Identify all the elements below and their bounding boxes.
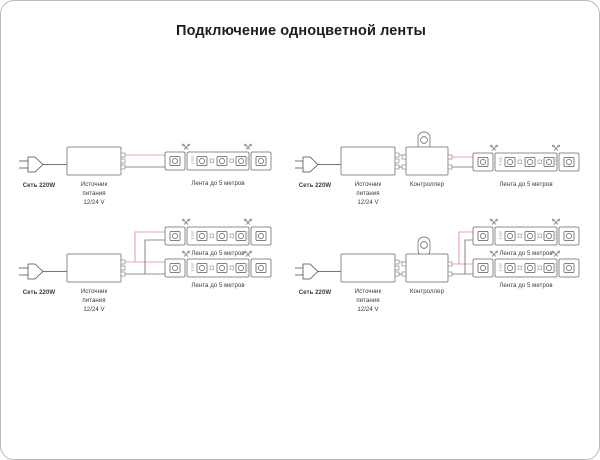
diagram-single-strip-with-controller: Сеть 220W Источник питания 12/24 V Контр… (293, 126, 583, 211)
positive-wire-branch (135, 232, 165, 262)
label-strip: Лента до 5 метров (163, 179, 273, 188)
diagram-canvas: Подключение одноцветной ленты (0, 0, 600, 460)
led-strip-icon (473, 227, 579, 245)
label-controller: Контроллер (397, 180, 457, 189)
diagram-4-graphics (293, 223, 583, 328)
positive-wire-branch (459, 232, 473, 264)
label-mains: Сеть 220W (285, 288, 345, 297)
scissors-cut-icon (182, 144, 251, 149)
label-mains: Сеть 220W (9, 181, 69, 190)
label-strip-lower: Лента до 5 метров (471, 281, 581, 290)
label-psu: Источник питания (64, 287, 124, 305)
led-strip-icon (165, 259, 271, 277)
label-psu-line2: питания (356, 297, 379, 304)
label-strip-upper: Лента до 5 метров (163, 249, 273, 258)
label-mains: Сеть 220W (9, 288, 69, 297)
label-psu-line2: питания (356, 190, 379, 197)
negative-wire-branch (145, 240, 165, 274)
label-psu-line2: питания (82, 190, 105, 197)
diagram-3-graphics (11, 223, 281, 328)
label-psu: Источник питания (338, 287, 398, 305)
power-supply-icon (341, 254, 399, 282)
label-psu: Источник питания (64, 180, 124, 198)
label-psu-line1: Источник (355, 288, 381, 295)
label-controller: Контроллер (397, 287, 457, 296)
label-psu-voltage: 12/24 V (64, 198, 124, 207)
scissors-cut-icon (182, 219, 251, 224)
led-strip-icon (165, 152, 271, 170)
label-mains: Сеть 220W (285, 181, 345, 190)
power-supply-icon (67, 147, 125, 175)
page-title: Подключение одноцветной ленты (1, 23, 600, 39)
power-supply-icon (341, 147, 399, 175)
controller-icon (402, 147, 452, 175)
diagram-1-graphics (11, 141, 281, 211)
led-strip-icon (473, 259, 579, 277)
scissors-cut-icon (490, 219, 559, 224)
label-psu-line1: Источник (81, 288, 107, 295)
label-strip-upper: Лента до 5 метров (471, 249, 581, 258)
label-psu-voltage: 12/24 V (338, 305, 398, 314)
ir-remote-icon (418, 237, 430, 256)
diagram-single-strip-no-controller: Сеть 220W Источник питания 12/24 V Лента… (11, 141, 281, 211)
label-psu: Источник питания (338, 180, 398, 198)
label-strip-lower: Лента до 5 метров (163, 281, 273, 290)
led-strip-icon (473, 153, 579, 171)
scissors-cut-icon (490, 145, 559, 150)
label-strip: Лента до 5 метров (471, 180, 581, 189)
label-psu-line1: Источник (81, 181, 107, 188)
label-psu-line1: Источник (355, 181, 381, 188)
diagram-dual-strip-no-controller: Сеть 220W Источник питания 12/24 V Лента… (11, 223, 281, 328)
label-psu-line2: питания (82, 297, 105, 304)
diagram-2-graphics (293, 126, 583, 211)
led-strip-icon (165, 227, 271, 245)
power-supply-icon (67, 254, 125, 282)
diagram-dual-strip-with-controller: Сеть 220W Источник питания 12/24 V Контр… (293, 223, 583, 328)
controller-icon (402, 254, 452, 282)
label-psu-voltage: 12/24 V (338, 198, 398, 207)
label-psu-voltage: 12/24 V (64, 305, 124, 314)
